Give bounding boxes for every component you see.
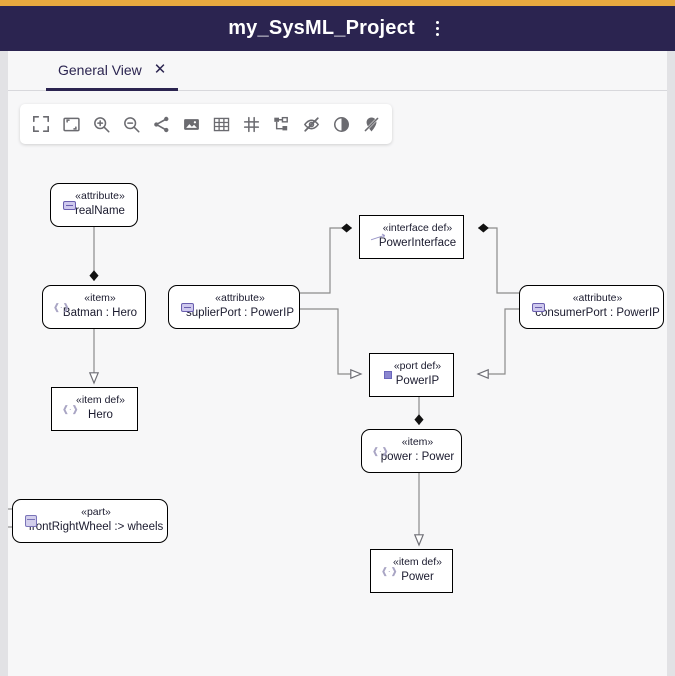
- node-suplier-port[interactable]: «attribute» suplierPort : PowerIP: [168, 285, 300, 329]
- left-gutter: [0, 51, 8, 676]
- node-batman[interactable]: ❰·❱ «item» Batman : Hero: [42, 285, 146, 329]
- share-icon[interactable]: [146, 109, 176, 139]
- node-keyword: «item»: [63, 292, 137, 306]
- node-powerip-def[interactable]: «port def» PowerIP: [369, 353, 454, 397]
- node-keyword: «interface def»: [379, 222, 456, 236]
- page-title: my_SysML_Project: [228, 17, 415, 40]
- node-hero-def[interactable]: ❰·❱ «item def» Hero: [51, 387, 138, 431]
- pin-off-icon[interactable]: [356, 109, 386, 139]
- node-power-interface[interactable]: ⟶ «interface def» PowerInterface: [359, 215, 464, 259]
- node-front-right-wheel[interactable]: «part» frontRightWheel :> wheels: [12, 499, 168, 543]
- diagram-toolbar: [20, 104, 392, 144]
- fullscreen-icon[interactable]: [26, 109, 56, 139]
- kebab-menu-icon[interactable]: [429, 19, 447, 39]
- fit-to-screen-icon[interactable]: [56, 109, 86, 139]
- node-name: suplierPort : PowerIP: [186, 306, 294, 321]
- interface-def-icon: ⟶: [371, 230, 385, 244]
- port-def-icon: [381, 368, 395, 382]
- node-name: power : Power: [381, 450, 455, 465]
- item-icon: ❰·❱: [54, 300, 68, 314]
- title-bar: my_SysML_Project: [0, 6, 675, 51]
- eye-off-icon[interactable]: [296, 109, 326, 139]
- node-keyword: «attribute»: [186, 292, 294, 306]
- grid-icon[interactable]: [206, 109, 236, 139]
- tab-general-view[interactable]: General View ✕: [46, 51, 178, 91]
- node-keyword: «attribute»: [75, 190, 125, 204]
- attribute-icon: [180, 300, 194, 314]
- part-icon: [24, 514, 38, 528]
- attribute-icon: [531, 300, 545, 314]
- node-keyword: «item def»: [76, 394, 125, 408]
- attribute-icon: [62, 198, 76, 212]
- close-icon[interactable]: ✕: [154, 62, 167, 77]
- node-name: Power: [393, 570, 442, 585]
- right-gutter: [667, 51, 675, 676]
- node-power-item[interactable]: ❰·❱ «item» power : Power: [361, 429, 462, 473]
- zoom-out-icon[interactable]: [116, 109, 146, 139]
- node-consumer-port[interactable]: «attribute» consumerPort : PowerIP: [519, 285, 664, 329]
- diagram-canvas[interactable]: «attribute» realName ❰·❱ «item» Batman :…: [8, 91, 667, 676]
- node-keyword: «port def»: [394, 360, 441, 374]
- tab-label: General View: [58, 62, 142, 78]
- node-name: frontRightWheel :> wheels: [29, 520, 164, 535]
- node-name: PowerIP: [394, 374, 441, 389]
- node-keyword: «attribute»: [535, 292, 660, 306]
- snap-grid-icon[interactable]: [236, 109, 266, 139]
- node-keyword: «item def»: [393, 556, 442, 570]
- application-window: my_SysML_Project General View ✕: [0, 0, 675, 676]
- node-power-def[interactable]: ❰·❱ «item def» Power: [370, 549, 453, 593]
- zoom-in-icon[interactable]: [86, 109, 116, 139]
- node-realname[interactable]: «attribute» realName: [50, 183, 138, 227]
- node-name: Batman : Hero: [63, 306, 137, 321]
- image-icon[interactable]: [176, 109, 206, 139]
- node-name: PowerInterface: [379, 236, 456, 251]
- node-name: realName: [75, 204, 125, 219]
- edge-layer: [8, 91, 667, 676]
- contrast-icon[interactable]: [326, 109, 356, 139]
- layout-tree-icon[interactable]: [266, 109, 296, 139]
- node-keyword: «part»: [29, 506, 164, 520]
- item-icon: ❰·❱: [373, 444, 387, 458]
- item-icon: ❰·❱: [382, 564, 396, 578]
- node-name: Hero: [76, 408, 125, 423]
- tab-bar: General View ✕: [8, 51, 667, 91]
- node-keyword: «item»: [381, 436, 455, 450]
- node-name: consumerPort : PowerIP: [535, 306, 660, 321]
- item-icon: ❰·❱: [63, 402, 77, 416]
